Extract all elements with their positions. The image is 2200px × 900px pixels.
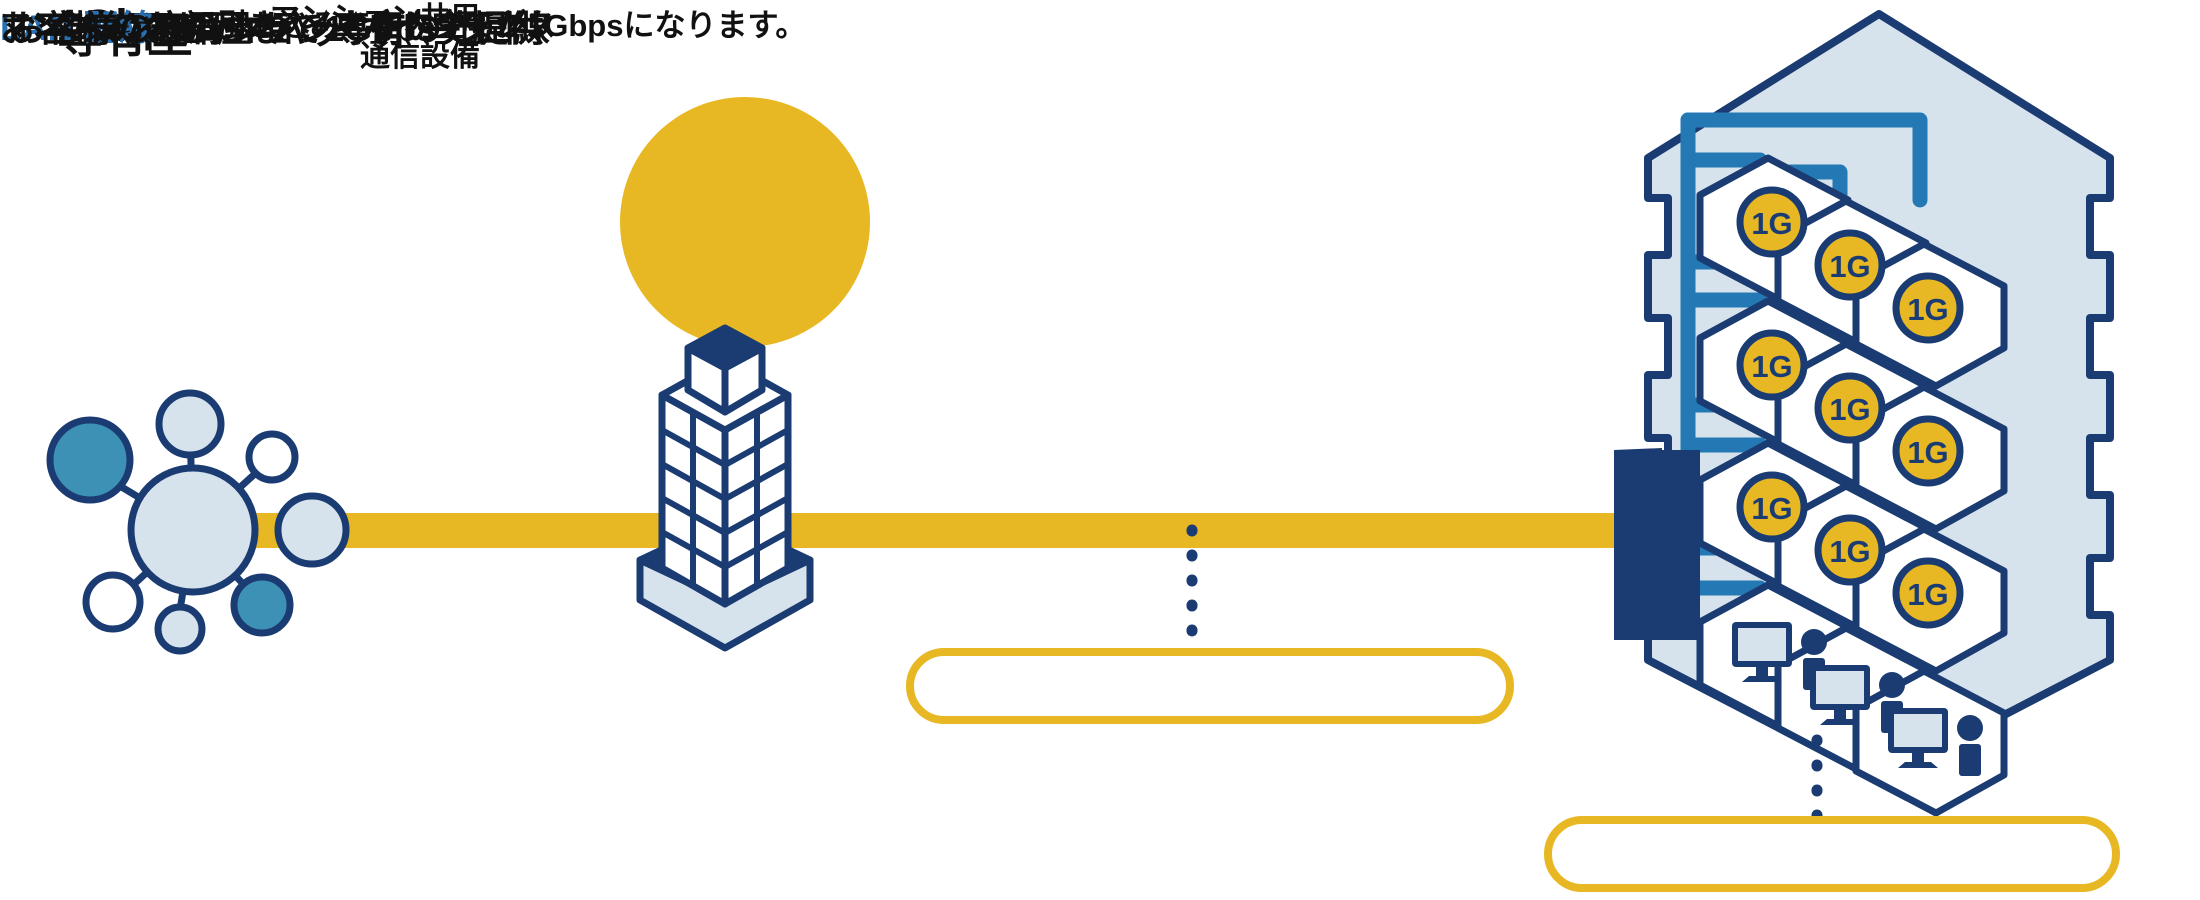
- svg-text:1G: 1G: [1907, 577, 1948, 612]
- apartment-building: 1G 1G 1G 1G 1G 1G 1G 1: [1648, 14, 2110, 813]
- mdf-equipment-box: [1614, 448, 1700, 640]
- svg-text:1G: 1G: [1751, 206, 1792, 241]
- svg-text:1G: 1G: [1751, 349, 1792, 384]
- callout-fiber-exclusive: [910, 652, 1510, 720]
- plan-badge-circle: [620, 97, 870, 347]
- svg-text:1G: 1G: [1907, 435, 1948, 470]
- callout-room-1gbps-label: お客様のお部屋まで1Gbpsで提供: [0, 0, 540, 52]
- svg-text:1G: 1G: [1907, 292, 1948, 327]
- svg-text:1G: 1G: [1829, 534, 1870, 569]
- diagram-canvas: 1G 1G 1G 1G 1G 1G 1G 1: [0, 0, 2200, 900]
- office-building-icon: [640, 328, 810, 648]
- svg-text:1G: 1G: [1829, 392, 1870, 427]
- svg-text:1G: 1G: [1829, 249, 1870, 284]
- fiber-trunk-line: [232, 513, 1644, 548]
- diagram-svg: 1G 1G 1G 1G 1G 1G 1G 1: [0, 0, 2200, 900]
- svg-text:1G: 1G: [1751, 491, 1792, 526]
- network-topology-icon: [50, 393, 346, 651]
- callout-room-1gbps: [1548, 820, 2116, 888]
